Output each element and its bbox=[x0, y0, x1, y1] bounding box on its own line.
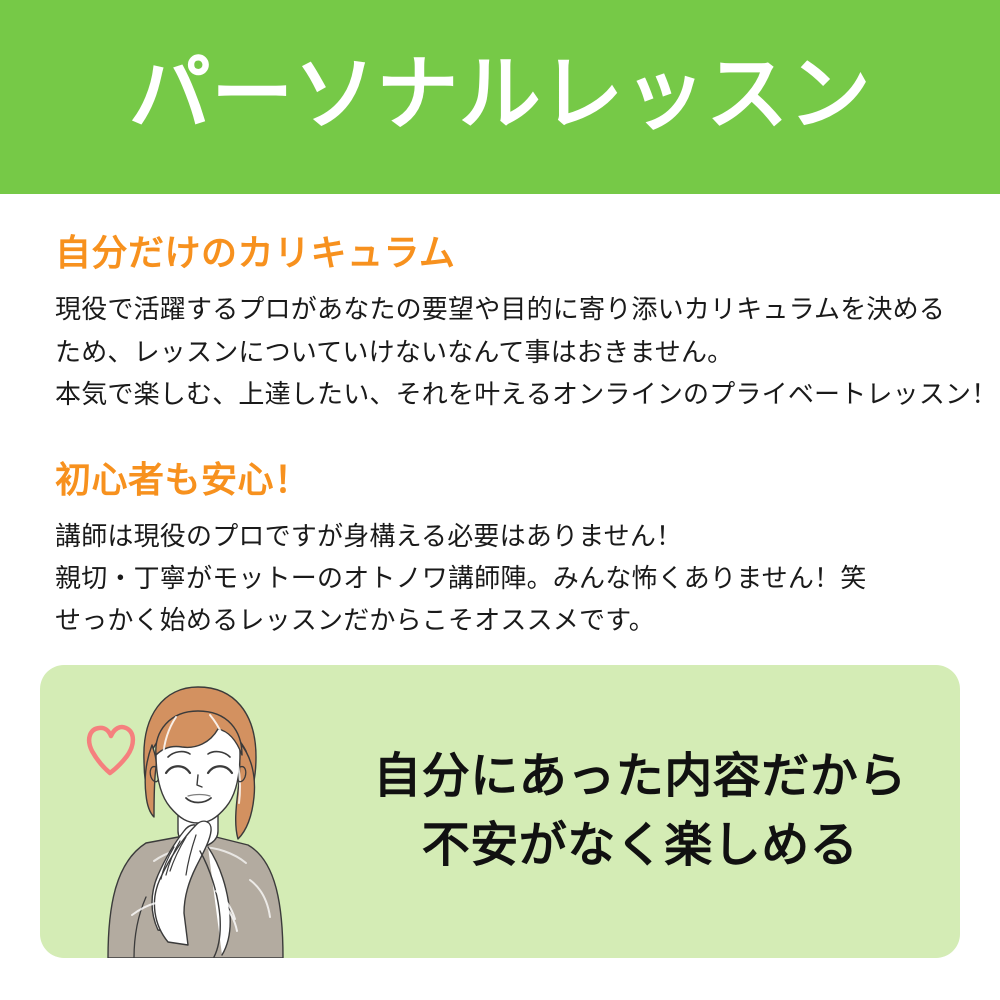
page-title: パーソナルレッスン bbox=[129, 54, 872, 136]
body-line: 親切・丁寧がモットーのオトノワ講師陣。みんな怖くありません！笑 bbox=[55, 557, 945, 599]
highlight-line: 自分にあった内容だから bbox=[373, 749, 907, 806]
highlight-line: 不安がなく楽しめる bbox=[422, 818, 859, 875]
section-curriculum: 自分だけのカリキュラム 現役で活躍するプロがあなたの要望や目的に寄り添いカリキュ… bbox=[0, 194, 1000, 415]
illustration-container bbox=[50, 665, 330, 958]
section-curriculum-heading: 自分だけのカリキュラム bbox=[55, 232, 945, 273]
highlight-card-text: 自分にあった内容だから 不安がなく楽しめる bbox=[340, 665, 940, 958]
section-beginner-heading: 初心者も安心！ bbox=[55, 459, 945, 500]
promo-page: パーソナルレッスン 自分だけのカリキュラム 現役で活躍するプロがあなたの要望や目… bbox=[0, 0, 1000, 1000]
body-line: せっかく始めるレッスンだからこそオススメです。 bbox=[55, 599, 945, 641]
section-beginner-body: 講師は現役のプロですが身構える必要はありません！ 親切・丁寧がモットーのオトノワ… bbox=[55, 515, 945, 641]
highlight-card: 自分にあった内容だから 不安がなく楽しめる bbox=[40, 665, 960, 958]
body-line: 講師は現役のプロですが身構える必要はありません！ bbox=[55, 515, 945, 557]
body-line: 本気で楽しむ、上達したい、それを叶えるオンラインのプライベートレッスン！ bbox=[55, 373, 945, 415]
body-line: 現役で活躍するプロがあなたの要望や目的に寄り添いカリキュラムを決める bbox=[55, 288, 945, 330]
content-area: 自分だけのカリキュラム 現役で活躍するプロがあなたの要望や目的に寄り添いカリキュ… bbox=[0, 194, 1000, 641]
heart-icon bbox=[89, 727, 133, 773]
body-line: ため、レッスンについていけないなんて事はおきません。 bbox=[55, 331, 945, 373]
smiling-woman-hands-together-icon bbox=[50, 665, 330, 958]
section-curriculum-body: 現役で活躍するプロがあなたの要望や目的に寄り添いカリキュラムを決める ため、レッ… bbox=[55, 288, 945, 414]
section-beginner: 初心者も安心！ 講師は現役のプロですが身構える必要はありません！ 親切・丁寧がモ… bbox=[0, 415, 1000, 642]
header-banner: パーソナルレッスン bbox=[0, 0, 1000, 194]
